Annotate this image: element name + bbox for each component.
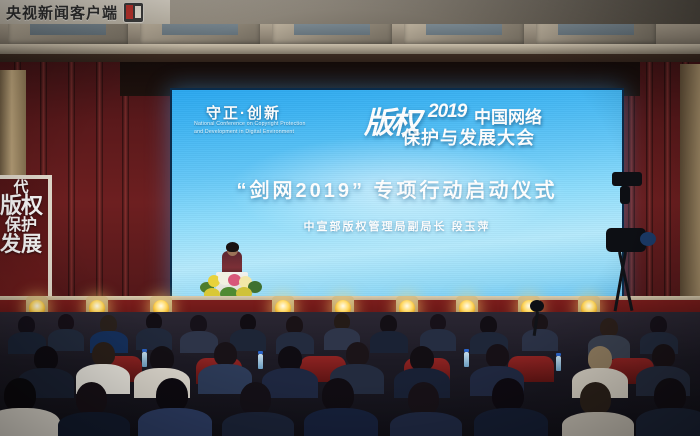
side-banner: 代 版权 保护 发展 <box>0 175 52 307</box>
water-bottle <box>464 352 469 367</box>
side-banner-line-2: 版权 <box>0 195 48 217</box>
cctv-news-logo-icon <box>123 2 144 23</box>
audience-area <box>0 312 700 436</box>
water-bottle <box>556 356 561 371</box>
photo-frame: 代 版权 保护 发展 守正·创新 National Conference on … <box>0 0 700 436</box>
watermark: 央视新闻客户端 <box>6 2 144 23</box>
ceiling-beam <box>0 44 700 54</box>
speaker-hair <box>226 242 239 252</box>
water-bottle <box>258 354 263 369</box>
side-banner-line-3: 保护 <box>0 218 48 234</box>
watermark-text: 央视新闻客户端 <box>6 2 118 23</box>
wall-pillar-right <box>680 64 700 304</box>
camera-icon <box>612 172 642 186</box>
camera-icon <box>530 300 544 312</box>
side-banner-line-4: 发展 <box>0 234 48 255</box>
water-bottle <box>142 352 147 367</box>
